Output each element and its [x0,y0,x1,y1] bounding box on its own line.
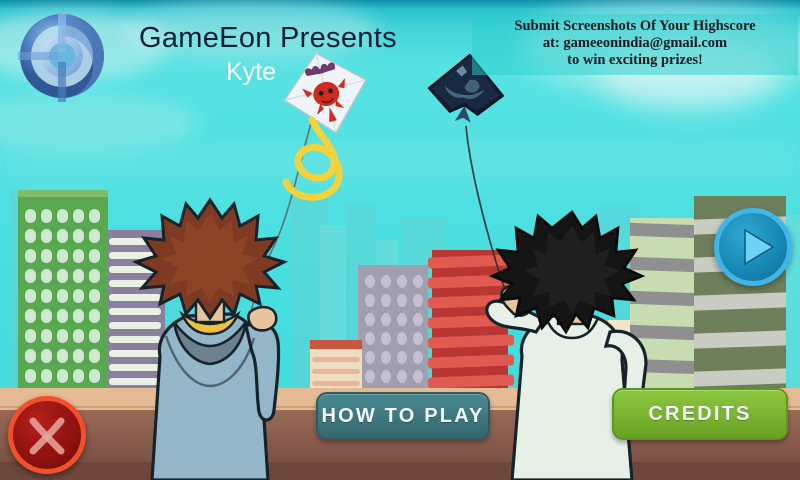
character-left [126,196,294,480]
notice-line-2: at: gameeonindia@gmail.com [482,35,788,52]
play-triangle-icon [719,213,787,281]
game-screen: GameEon Presents Kyte Submit Screenshots… [0,0,800,480]
credits-button[interactable]: CREDITS [612,388,788,440]
credits-label: CREDITS [648,403,751,426]
notice-line-1: Submit Screenshots Of Your Highscore [482,18,788,35]
how-to-play-button[interactable]: HOW TO PLAY [316,392,490,440]
notice-line-3: to win exciting prizes! [482,52,788,69]
highscore-notice: Submit Screenshots Of Your Highscore at:… [472,14,798,75]
page-title: GameEon Presents [139,22,397,55]
game-title: Kyte [226,58,276,87]
play-button[interactable] [714,208,792,286]
how-to-play-label: HOW TO PLAY [321,405,484,428]
close-button[interactable] [8,396,86,474]
gameeon-logo [12,6,112,106]
x-cross-icon [13,401,81,469]
